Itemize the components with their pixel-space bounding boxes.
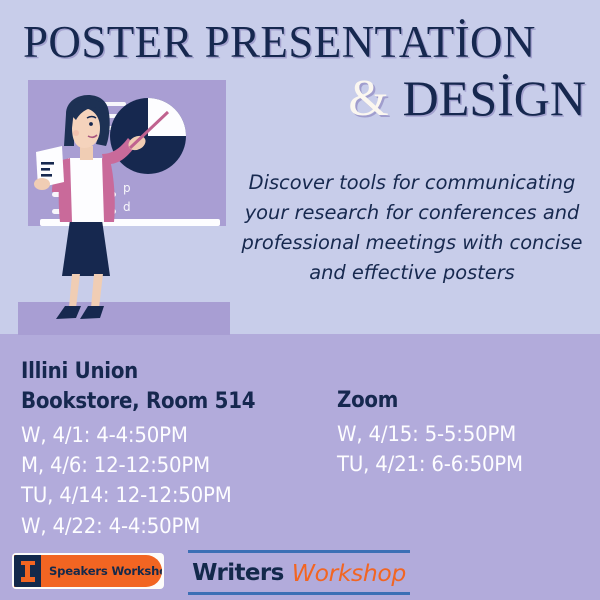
logo-writers-bold-word: Writers: [192, 560, 284, 586]
list-item: TU, 4/21: 6-6:50PM: [337, 449, 581, 479]
poster-description: Discover tools for communicating your re…: [228, 168, 596, 288]
blouse: [66, 158, 106, 222]
logo-writers-workshop[interactable]: Writers Workshop: [188, 550, 410, 595]
schedule-column-in-person: Illini Union Bookstore, Room 514 W, 4/1:…: [21, 357, 341, 541]
logo-speakers-workshop[interactable]: Speakers Workshop: [12, 553, 164, 589]
floor-band: [18, 302, 230, 335]
page-title-line-1: POSTER PRESENTATİON: [23, 19, 583, 66]
logo-speakers-workshop-label: Speakers Workshop: [41, 564, 162, 578]
footer-logo-bar: Speakers Workshop Writers Workshop Illin…: [0, 546, 600, 600]
venue-date-list: W, 4/1: 4-4:50PM M, 4/6: 12-12:50PM TU, …: [21, 420, 341, 541]
list-item: M, 4/6: 12-12:50PM: [21, 450, 322, 480]
page-title-line-2: &DESİGN: [348, 72, 586, 127]
list-item: TU, 4/14: 12-12:50PM: [21, 480, 322, 510]
zoom-heading: Zoom: [337, 386, 566, 416]
schedule-column-zoom: Zoom W, 4/15: 5-5:50PM TU, 4/21: 6-6:50P…: [337, 386, 597, 479]
zoom-date-list: W, 4/15: 5-5:50PM TU, 4/21: 6-6:50PM: [337, 419, 597, 479]
list-item: W, 4/22: 4-4:50PM: [21, 511, 322, 541]
poster-canvas: POSTER PRESENTATİON &DESİGN Discover too…: [0, 0, 600, 600]
presenter-with-pie-chart-illustration: p d: [18, 80, 230, 335]
venue-heading-line-2: Bookstore, Room 514: [21, 387, 303, 417]
skirt: [62, 220, 110, 276]
list-item: W, 4/1: 4-4:50PM: [21, 420, 322, 450]
illinois-block-i-icon: [14, 555, 41, 587]
page-title-design-word: DESİGN: [403, 70, 586, 126]
svg-text:d: d: [123, 200, 131, 214]
pie-chart-graphic: [110, 98, 186, 174]
ampersand-glyph: &: [348, 70, 388, 127]
logo-writers-italic-word: Workshop: [292, 559, 406, 587]
svg-text:p: p: [123, 181, 131, 195]
list-item: W, 4/15: 5-5:50PM: [337, 419, 581, 449]
venue-heading-line-1: Illini Union: [21, 357, 303, 387]
